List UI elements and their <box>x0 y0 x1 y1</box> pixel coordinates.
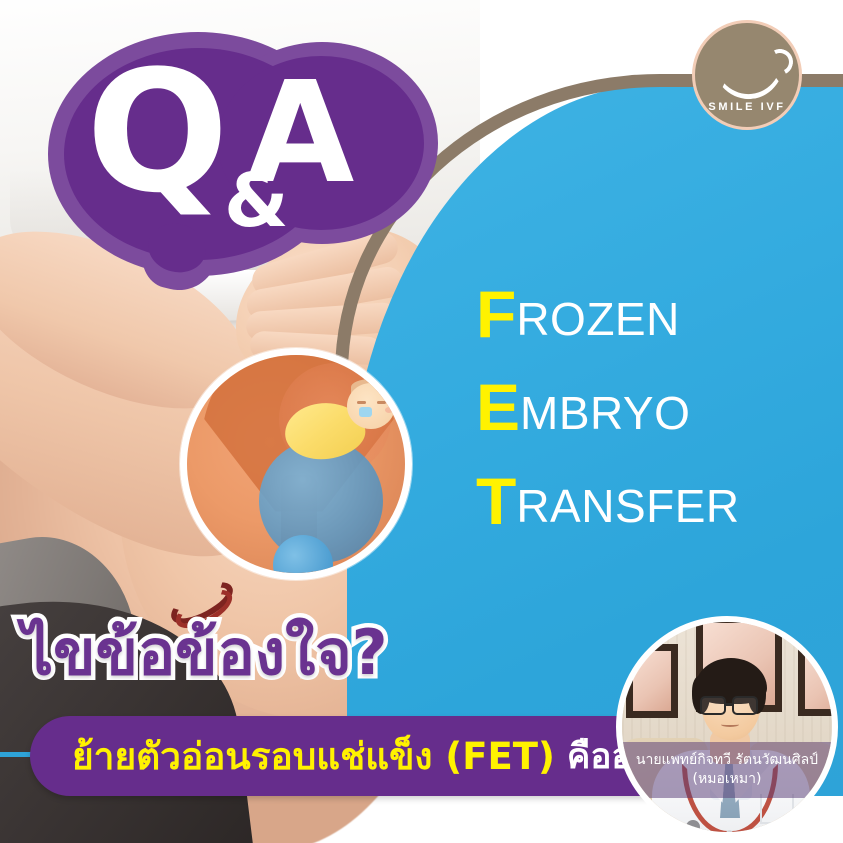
logo-text: SMILE IVF <box>708 101 785 113</box>
embryo-transfer-illustration <box>180 348 412 580</box>
fet-cap-f: F <box>476 285 516 344</box>
coat-button <box>726 830 733 837</box>
baby-eye <box>357 401 366 404</box>
baby-cheek <box>385 407 393 413</box>
doctor-portrait: นายแพทย์กิจทวี รัตนวัฒนศิลป์ (หมอเหมา) <box>616 616 838 838</box>
doctor-smile <box>721 722 739 727</box>
fet-word-frozen: ROZEN <box>516 296 680 344</box>
poster-canvas: SMILE IVF Q A & <box>0 0 843 843</box>
coat-pocket <box>760 794 794 824</box>
baby-pacifier-icon <box>359 407 372 417</box>
fet-word-embryo: MBRYO <box>520 390 690 438</box>
baby-eye <box>377 401 386 404</box>
glasses-lens-right <box>732 696 758 715</box>
fet-line-transfer: T RANSFER <box>476 472 843 531</box>
fet-cap-t: T <box>476 472 516 531</box>
stethoscope-bell <box>686 820 700 834</box>
banner-yellow-text: ย้ายตัวอ่อนรอบแช่แข็ง (FET) <box>72 727 555 786</box>
fet-headline: F ROZEN E MBRYO T RANSFER <box>476 285 843 533</box>
swaddled-baby <box>285 377 399 463</box>
smile-ivf-logo[interactable]: SMILE IVF <box>692 20 802 130</box>
doctor-name-line2: (หมอเหมา) <box>693 770 762 789</box>
fet-word-transfer: RANSFER <box>516 483 739 531</box>
doctor-name-caption: นายแพทย์กิจทวี รัตนวัฒนศิลป์ (หมอเหมา) <box>622 742 832 798</box>
fet-cap-e: E <box>476 378 520 437</box>
baby-head <box>347 383 395 429</box>
thai-question-headline: ไขข้อข้องใจ? <box>22 622 388 684</box>
fet-line-embryo: E MBRYO <box>476 378 843 437</box>
glasses-bridge <box>726 703 734 706</box>
doctor-name-line1: นายแพทย์กิจทวี รัตนวัฒนศิลป์ <box>636 751 818 770</box>
qa-ampersand: & <box>224 164 289 238</box>
qa-letter-q: Q <box>86 48 223 216</box>
qa-bubble-letters: Q A & <box>24 16 424 266</box>
glasses-lens-left <box>700 696 726 715</box>
wall-frame <box>626 644 678 718</box>
fet-line-frozen: F ROZEN <box>476 285 843 344</box>
wall-frame-image <box>633 651 671 711</box>
